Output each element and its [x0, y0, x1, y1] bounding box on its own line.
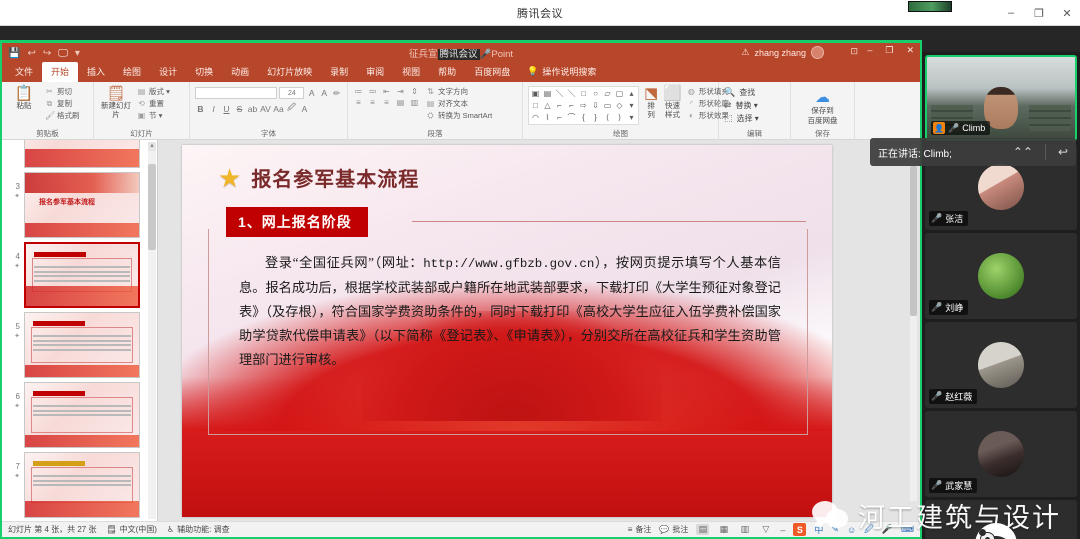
doc-title-suffix: Point [491, 49, 513, 60]
microphone-icon[interactable]: 🎤 [948, 123, 959, 134]
align-text-label: 对齐文本 [438, 98, 468, 109]
section-icon: ▣ [137, 111, 146, 120]
screen-share-indicator [908, 1, 952, 12]
quick-styles-button[interactable]: ⬜ 快速样式 [663, 84, 682, 125]
shape-item[interactable]: ○ [590, 88, 601, 99]
shape-item[interactable]: ⌐ [554, 112, 565, 123]
paste-button[interactable]: 📋 粘贴 [7, 84, 41, 111]
ppt-work-area: 2✦ 3✦ 报名参军基本流程 [2, 140, 920, 521]
lightbulb-icon: 💡 [527, 66, 538, 77]
slide-count-label: 幻灯片 第 4 张，共 27 张 [8, 524, 96, 535]
shape-item[interactable]: △ [542, 100, 553, 111]
body-url: http://www.gfbzb.gov.cn [423, 257, 594, 271]
shape-item[interactable]: □ [578, 88, 589, 99]
tab-home[interactable]: 开始 [42, 62, 78, 82]
tab-view[interactable]: 视图 [393, 62, 429, 82]
doc-title-mic-icon: 🎤 [480, 49, 492, 60]
participant-tile-active-speaker[interactable]: 👤 🎤 Climb [925, 55, 1077, 141]
select-label: 选择 ▾ [737, 113, 759, 124]
slide-body-box[interactable]: 登录“全国征兵网”（网址：http://www.gfbzb.gov.cn），按网… [208, 229, 808, 435]
ribbon-group-editing: 🔍 查找 ⇄ 替换 ▾ ⬚ 选择 ▾ [719, 82, 791, 140]
shape-item[interactable]: ⇩ [590, 100, 601, 111]
star-icon: ✦ [6, 262, 20, 272]
scroll-up-icon[interactable]: ▲ [148, 142, 156, 151]
shape-item[interactable]: ▱ [602, 88, 613, 99]
reading-view-button[interactable]: ▥ [738, 524, 751, 535]
notes-label: 备注 [635, 524, 651, 535]
avatar [978, 253, 1024, 299]
baidu-cloud-icon: ☁ [815, 88, 830, 106]
group-title-font: 字体 [190, 128, 347, 139]
slide-title-block[interactable]: ★ 报名参军基本流程 [218, 163, 419, 192]
doc-title-prefix: 征兵宣 [409, 49, 438, 60]
tab-review[interactable]: 审阅 [357, 62, 393, 82]
microphone-muted-icon[interactable]: 🎤 [931, 213, 942, 224]
comments-label: 批注 [672, 524, 688, 535]
participant-tile[interactable]: 🎤 武家慧 [925, 411, 1077, 497]
align-text-button[interactable]: ▤ 对齐文本 [426, 98, 492, 109]
underline-button[interactable]: U [221, 104, 232, 114]
ribbon-group-paragraph: ≔ ≕ ⇤ ⇥ ⇕ ≡ ≡ ≡ ▤ [348, 82, 523, 140]
paste-icon: 📋 [15, 86, 34, 101]
shape-item[interactable]: ⌐ [566, 100, 577, 111]
ppt-ribbon: 📋 粘贴 ✂ 剪切 ⧉ 复制 [2, 82, 920, 140]
normal-view-button[interactable]: ▤ [696, 524, 709, 535]
copy-button[interactable]: ⧉ 复制 [45, 98, 80, 109]
select-button[interactable]: ⬚ 选择 ▾ [724, 113, 785, 124]
arrange-icon: ⬔ [644, 86, 658, 101]
slide-thumbnail[interactable] [24, 140, 140, 168]
comments-button[interactable]: 💬 批注 [659, 524, 688, 535]
slide-thumbnail[interactable]: 报名参军基本流程 [24, 172, 140, 238]
meeting-window-buttons: – ❐ ✕ [1004, 0, 1074, 26]
italic-button[interactable]: I [208, 104, 219, 114]
layout-button[interactable]: ▤ 版式 ▾ [137, 86, 170, 97]
layout-icon: ▤ [137, 87, 146, 96]
cut-label: 剪切 [57, 86, 72, 97]
sogou-ime-icon[interactable]: S [793, 523, 806, 536]
font-size-input[interactable]: 24 [279, 87, 304, 99]
doc-title-highlight: 腾讯会议 [438, 49, 480, 60]
shape-item[interactable]: □ [530, 100, 541, 111]
shapes-scroll-down-icon[interactable]: ▾ [626, 112, 637, 123]
participant-strip[interactable]: 👤 🎤 Climb 🎤 张洁 🎤 刘峥 [922, 52, 1080, 539]
shape-item[interactable]: ＼ [566, 88, 577, 99]
shape-item[interactable]: ◠ [530, 112, 541, 123]
shape-item[interactable]: ⌇ [542, 112, 553, 123]
shape-outline-icon: ◜ [687, 99, 696, 108]
line-spacing-icon[interactable]: ⇕ [409, 87, 420, 96]
ppt-restore-button[interactable]: ❐ [885, 45, 893, 56]
meeting-minimize-button[interactable]: – [1004, 7, 1018, 19]
quick-styles-icon: ⬜ [663, 86, 682, 101]
arrange-button[interactable]: ⬔ 排列 [644, 84, 658, 125]
accessibility-label: 辅助功能: 调查 [177, 524, 229, 535]
shape-effects-icon: ◐ [687, 111, 696, 120]
shape-item[interactable]: ⌒ [566, 112, 577, 123]
list-item[interactable]: 7✦ [2, 448, 157, 518]
tab-draw[interactable]: 绘图 [114, 62, 150, 82]
thumbnail-number: 7 [16, 462, 20, 471]
copy-label: 复制 [57, 98, 72, 109]
format-painter-button[interactable]: 🖌 格式刷 [45, 110, 80, 121]
participant-tile[interactable]: 🎤 刘峥 [925, 233, 1077, 319]
shape-fill-icon: ◍ [687, 87, 696, 96]
list-item[interactable]: 6✦ [2, 378, 157, 448]
group-title-editing: 编辑 [719, 128, 790, 139]
accessibility-icon: ♿ [167, 525, 174, 534]
chevron-up-icon[interactable]: ⌃⌃ [1013, 145, 1033, 159]
reply-arrow-icon[interactable]: ↩ [1058, 145, 1068, 159]
arrange-label: 排列 [644, 102, 658, 119]
thumbnail-caption: 报名参军基本流程 [39, 197, 95, 207]
save-to-baidu-label-line1: 保存到 [811, 107, 834, 116]
ppt-ribbon-tabs: 文件 开始 插入 绘图 设计 切换 动画 幻灯片放映 录制 审阅 视图 帮助 百… [2, 63, 920, 82]
text-direction-button[interactable]: ⇅ 文字方向 [426, 86, 492, 97]
ribbon-group-drawing: ▣ ▤ ＼ ＼ □ ○ ▱ ▢ ▴ □ △ ⌐ [523, 82, 719, 140]
participant-name: 武家慧 [945, 479, 972, 492]
thumbnail-scrollbar[interactable]: ▲ [148, 142, 156, 519]
meeting-maximize-button[interactable]: ❐ [1032, 7, 1046, 20]
tell-me-label: 操作说明搜索 [542, 65, 596, 78]
bullets-icon[interactable]: ≔ [353, 87, 364, 96]
language-indicator[interactable]: 🗒 中文(中国) [106, 524, 156, 535]
shape-item[interactable]: ⟨ [602, 112, 613, 123]
ppt-status-bar: 幻灯片 第 4 张，共 27 张 🗒 中文(中国) ♿ 辅助功能: 调查 ≡ [2, 521, 920, 537]
character-spacing-button[interactable]: AV [260, 104, 271, 114]
ribbon-display-options-icon[interactable]: ⊡ [850, 46, 858, 57]
new-slide-icon: 🗒 [106, 86, 125, 101]
shape-item[interactable]: ▣ [530, 88, 541, 99]
increase-indent-icon[interactable]: ⇥ [395, 87, 406, 96]
section-button[interactable]: ▣ 节 ▾ [137, 110, 170, 121]
avatar [978, 164, 1024, 210]
text-direction-icon: ⇅ [426, 87, 435, 96]
align-text-icon: ▤ [426, 99, 435, 108]
shape-item[interactable]: } [590, 112, 601, 123]
shape-item[interactable]: ▢ [614, 88, 625, 99]
warning-icon: ⚠ [741, 47, 749, 58]
participant-name: 张洁 [945, 212, 963, 225]
star-icon: ✦ [6, 472, 20, 482]
ppt-window-buttons: – ❐ ✕ [867, 45, 914, 56]
group-title-paragraph: 段落 [348, 128, 522, 139]
star-icon: ✦ [6, 402, 20, 412]
language-icon: 🗒 [106, 525, 116, 534]
participant-tile[interactable]: 🎤 赵红薇 [925, 322, 1077, 408]
font-name-input[interactable] [195, 87, 277, 99]
thumbnail-number: 5 [16, 322, 20, 331]
ribbon-group-slides: 🗒 新建幻灯片 ▤ 版式 ▾ ⟲ 重置 [94, 82, 190, 140]
thumbnail-number: 3 [16, 182, 20, 191]
decrease-font-size-button[interactable]: A [319, 88, 330, 98]
thumbnail-number: 4 [16, 252, 20, 261]
shapes-scroll-up-icon[interactable]: ▴ [626, 88, 637, 99]
participant-name-badge: 🎤 武家慧 [929, 478, 977, 493]
slide-thumbnail-selected[interactable] [24, 242, 140, 308]
shape-item[interactable]: { [578, 112, 589, 123]
participant-name: Climb [962, 123, 985, 133]
align-left-icon[interactable]: ≡ [353, 98, 364, 107]
slide-scrollbar[interactable] [910, 144, 917, 501]
shared-screen-frame: 💾 ↩ ↪ 🖵 ▾ 征兵宣腾讯会议🎤Point ⚠ zhang zhang ⊡ … [0, 40, 922, 539]
body-line-2: ），按网页提示填写个人基本信息。报名成功后，根据学校武装部或户籍所在地武装部要求… [239, 255, 781, 367]
find-label: 查找 [739, 87, 755, 98]
participant-name: 刘峥 [945, 301, 963, 314]
list-item[interactable]: 5✦ [2, 308, 157, 378]
slide-thumbnail[interactable] [24, 382, 140, 448]
columns-icon[interactable]: ▥ [409, 98, 420, 107]
slide-body-text: 登录“全国征兵网”（网址：http://www.gfbzb.gov.cn），按网… [239, 251, 781, 372]
group-title-drawing: 绘图 [523, 128, 718, 139]
convert-smartart-button[interactable]: ⛭ 转换为 SmartArt [426, 110, 492, 121]
body-line-1: 登录“全国征兵网”（网址： [239, 255, 423, 270]
ppt-minimize-button[interactable]: – [867, 45, 872, 56]
ppt-close-button[interactable]: ✕ [906, 45, 914, 56]
text-highlight-color-icon[interactable]: 🖉 [286, 102, 297, 116]
tell-me-search[interactable]: 💡 操作说明搜索 [527, 65, 596, 82]
group-title-slides: 幻灯片 [94, 128, 189, 139]
participant-name-badge: 🎤 刘峥 [929, 300, 968, 315]
new-slide-button[interactable]: 🗒 新建幻灯片 [99, 84, 133, 119]
ribbon-group-font: 24 A A ✏ B I U S ab AV [190, 82, 348, 140]
speaking-toast-text: 正在讲话: Climb; [878, 145, 952, 160]
avatar [978, 342, 1024, 388]
shape-item[interactable]: ▭ [602, 100, 613, 111]
replace-button[interactable]: ⇄ 替换 ▾ [724, 100, 785, 111]
thumbnail-number: 6 [16, 392, 20, 401]
wechat-watermark: 河工建筑与设计 [812, 496, 1061, 535]
shapes-more-icon[interactable]: ▾ [626, 100, 637, 111]
search-icon: 🔍 [724, 87, 735, 98]
current-slide[interactable]: ★ 报名参军基本流程 1、网上报名阶段 登录“全国征兵网”（网址：http://… [182, 145, 832, 517]
convert-smartart-label: 转换为 SmartArt [438, 110, 492, 121]
cut-button[interactable]: ✂ 剪切 [45, 86, 80, 97]
text-shadow-button[interactable]: ab [247, 104, 258, 114]
shape-item[interactable]: ▤ [542, 88, 553, 99]
shape-item[interactable]: ⌐ [554, 100, 565, 111]
replace-label: 替换 ▾ [736, 100, 758, 111]
new-slide-label: 新建幻灯片 [99, 102, 133, 119]
strikethrough-button[interactable]: S [234, 104, 245, 114]
microphone-muted-icon[interactable]: 🎤 [931, 480, 942, 491]
tab-insert[interactable]: 插入 [78, 62, 114, 82]
text-direction-label: 文字方向 [438, 86, 468, 97]
group-title-clipboard: 剪贴板 [2, 128, 93, 139]
slideshow-view-button[interactable]: ▽ [759, 524, 772, 535]
scrollbar-thumb[interactable] [148, 164, 156, 250]
watermark-text: 河工建筑与设计 [858, 496, 1061, 535]
shape-item[interactable]: ＼ [554, 88, 565, 99]
slide-editing-pane[interactable]: ★ 报名参军基本流程 1、网上报名阶段 登录“全国征兵网”（网址：http://… [158, 140, 920, 521]
ppt-account[interactable]: ⚠ zhang zhang [741, 46, 824, 59]
find-button[interactable]: 🔍 查找 [724, 87, 785, 98]
select-icon: ⬚ [724, 113, 733, 124]
tab-file[interactable]: 文件 [6, 62, 42, 82]
background-shelf [1029, 105, 1071, 131]
smartart-icon: ⛭ [426, 111, 435, 121]
copy-icon: ⧉ [45, 99, 54, 109]
wechat-logo-icon [812, 501, 850, 531]
divider [1045, 144, 1046, 160]
star-icon: ✦ [6, 192, 20, 202]
notes-icon: ≡ [628, 525, 633, 534]
microphone-muted-icon[interactable]: 🎤 [931, 391, 942, 402]
align-right-icon[interactable]: ≡ [381, 98, 392, 107]
reset-button[interactable]: ⟲ 重置 [137, 98, 170, 109]
list-item[interactable]: 3✦ 报名参军基本流程 [2, 168, 157, 238]
account-name: zhang zhang [754, 48, 806, 58]
slide-thumbnail-pane[interactable]: 2✦ 3✦ 报名参军基本流程 [2, 140, 158, 521]
clear-formatting-icon[interactable]: ✏ [331, 88, 342, 99]
list-item[interactable]: 2✦ [2, 140, 157, 168]
avatar[interactable] [811, 46, 824, 59]
reset-icon: ⟲ [137, 99, 146, 108]
replace-icon: ⇄ [724, 100, 732, 111]
zoom-out-button[interactable]: – [780, 525, 785, 535]
screen-root: 腾讯会议 – ❐ ✕ 💾 ↩ ↪ 🖵 ▾ 征兵宣腾讯会议🎤Point [0, 0, 1080, 539]
tab-transitions[interactable]: 切换 [186, 62, 222, 82]
comment-icon: 💬 [659, 525, 669, 534]
group-title-save: 保存 [791, 128, 854, 139]
align-center-icon[interactable]: ≡ [367, 98, 378, 107]
participant-name-badge: 👤 🎤 Climb [931, 121, 990, 135]
font-color-button[interactable]: A [299, 104, 310, 114]
participant-name: 赵红薇 [945, 390, 972, 403]
paste-label: 粘贴 [17, 102, 32, 111]
scrollbar-thumb[interactable] [910, 166, 917, 316]
paintbrush-icon: 🖌 [45, 111, 54, 120]
quick-styles-label: 快速样式 [663, 102, 682, 119]
star-icon: ✦ [6, 332, 20, 342]
banner-rule [412, 221, 806, 222]
shape-item[interactable]: ⇨ [578, 100, 589, 111]
increase-font-size-button[interactable]: A [306, 88, 317, 98]
numbering-icon[interactable]: ≕ [367, 87, 378, 96]
list-item[interactable]: 4✦ [2, 238, 157, 308]
page-title: 报名参军基本流程 [251, 163, 419, 192]
tab-animations[interactable]: 动画 [222, 62, 258, 82]
powerpoint-window: 💾 ↩ ↪ 🖵 ▾ 征兵宣腾讯会议🎤Point ⚠ zhang zhang ⊡ … [2, 43, 920, 537]
notes-button[interactable]: ≡ 备注 [628, 524, 652, 535]
participant-name-badge: 🎤 赵红薇 [929, 389, 977, 404]
language-label: 中文(中国) [120, 524, 157, 535]
meeting-title-bar: 腾讯会议 – ❐ ✕ [0, 0, 1080, 26]
layout-label: 版式 ▾ [149, 86, 170, 97]
slide-thumbnail[interactable] [24, 312, 140, 378]
tab-record[interactable]: 录制 [321, 62, 357, 82]
microphone-muted-icon[interactable]: 🎤 [931, 302, 942, 313]
ribbon-group-save: ☁ 保存到 百度网盘 保存 [791, 82, 855, 140]
tab-design[interactable]: 设计 [150, 62, 186, 82]
slide-sorter-view-button[interactable]: ▦ [717, 524, 730, 535]
justify-icon[interactable]: ▤ [395, 98, 406, 107]
avatar [978, 431, 1024, 477]
star-icon: ★ [218, 165, 241, 191]
tab-slideshow[interactable]: 幻灯片放映 [258, 62, 321, 82]
scissors-icon: ✂ [45, 87, 54, 96]
host-icon: 👤 [933, 122, 945, 134]
change-case-button[interactable]: Aa [273, 104, 284, 114]
shape-item[interactable]: ⟩ [614, 112, 625, 123]
tab-baidu-netdisk[interactable]: 百度网盘 [465, 62, 519, 82]
speaking-toast: 正在讲话: Climb; ⌃⌃ ↩ [870, 138, 1076, 166]
meeting-close-button[interactable]: ✕ [1060, 7, 1074, 20]
decrease-indent-icon[interactable]: ⇤ [381, 87, 392, 96]
shapes-gallery[interactable]: ▣ ▤ ＼ ＼ □ ○ ▱ ▢ ▴ □ △ ⌐ [528, 86, 639, 125]
format-painter-label: 格式刷 [57, 110, 80, 121]
shape-item[interactable]: ◇ [614, 100, 625, 111]
slide-thumbnail[interactable] [24, 452, 140, 518]
bold-button[interactable]: B [195, 104, 206, 114]
ribbon-group-clipboard: 📋 粘贴 ✂ 剪切 ⧉ 复制 [2, 82, 94, 140]
participant-name-badge: 🎤 张洁 [929, 211, 968, 226]
tab-help[interactable]: 帮助 [429, 62, 465, 82]
reset-label: 重置 [149, 98, 164, 109]
section-label: 节 ▾ [149, 110, 162, 121]
save-to-baidu-label-line2: 百度网盘 [808, 117, 838, 126]
meeting-title: 腾讯会议 [517, 5, 563, 21]
meeting-body: 💾 ↩ ↪ 🖵 ▾ 征兵宣腾讯会议🎤Point ⚠ zhang zhang ⊡ … [0, 26, 1080, 539]
accessibility-indicator[interactable]: ♿ 辅助功能: 调查 [167, 524, 230, 535]
